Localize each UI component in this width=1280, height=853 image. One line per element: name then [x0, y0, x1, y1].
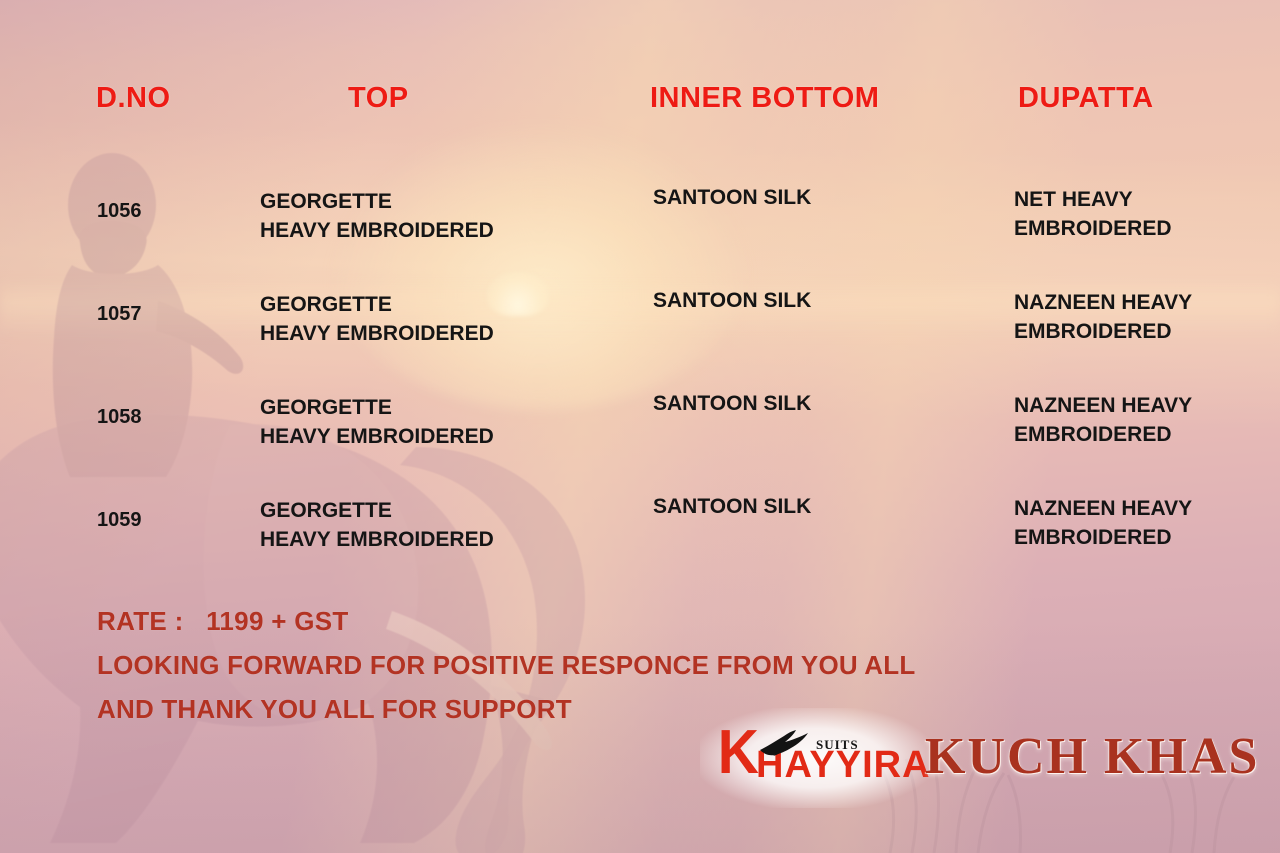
cell-top: GEORGETTE HEAVY EMBROIDERED	[260, 393, 494, 451]
table-row: 1057 GEORGETTE HEAVY EMBROIDERED SANTOON…	[0, 286, 1280, 386]
cell-inner-bottom: SANTOON SILK	[653, 286, 811, 315]
table-row: 1058 GEORGETTE HEAVY EMBROIDERED SANTOON…	[0, 389, 1280, 489]
poster-content: D.NO TOP INNER BOTTOM DUPATTA 1056 GEORG…	[0, 0, 1280, 853]
thank-you-line-one: LOOKING FORWARD FOR POSITIVE RESPONCE FR…	[97, 650, 915, 681]
column-header-dupatta: DUPATTA	[1018, 82, 1154, 115]
rate-text: RATE : 1199 + GST	[97, 606, 349, 637]
column-header-dno: D.NO	[96, 82, 171, 115]
column-header-top: TOP	[348, 82, 409, 115]
cell-dupatta: NAZNEEN HEAVY EMBROIDERED	[1014, 391, 1192, 449]
cell-dupatta: NAZNEEN HEAVY EMBROIDERED	[1014, 288, 1192, 346]
cell-dno: 1059	[97, 506, 142, 535]
khayyira-brand-logo: K HAYYIRA SUITS	[700, 708, 930, 808]
cell-top: GEORGETTE HEAVY EMBROIDERED	[260, 187, 494, 245]
cell-inner-bottom: SANTOON SILK	[653, 183, 811, 212]
kuch-khas-wordmark: KUCH KHAS	[925, 731, 1259, 783]
khayyira-tagline: SUITS	[816, 737, 859, 753]
thank-you-line-two: AND THANK YOU ALL FOR SUPPORT	[97, 694, 572, 725]
cell-dupatta: NAZNEEN HEAVY EMBROIDERED	[1014, 494, 1192, 552]
table-row: 1059 GEORGETTE HEAVY EMBROIDERED SANTOON…	[0, 492, 1280, 592]
cell-dno: 1058	[97, 403, 142, 432]
cell-dupatta: NET HEAVY EMBROIDERED	[1014, 185, 1172, 243]
cell-top: GEORGETTE HEAVY EMBROIDERED	[260, 496, 494, 554]
catalogue-poster: D.NO TOP INNER BOTTOM DUPATTA 1056 GEORG…	[0, 0, 1280, 853]
cell-inner-bottom: SANTOON SILK	[653, 389, 811, 418]
cell-dno: 1056	[97, 197, 142, 226]
cell-top: GEORGETTE HEAVY EMBROIDERED	[260, 290, 494, 348]
cell-dno: 1057	[97, 300, 142, 329]
table-row: 1056 GEORGETTE HEAVY EMBROIDERED SANTOON…	[0, 183, 1280, 283]
cell-inner-bottom: SANTOON SILK	[653, 492, 811, 521]
column-header-inner-bottom: INNER BOTTOM	[650, 82, 879, 115]
khayyira-initial-k: K	[718, 722, 759, 784]
